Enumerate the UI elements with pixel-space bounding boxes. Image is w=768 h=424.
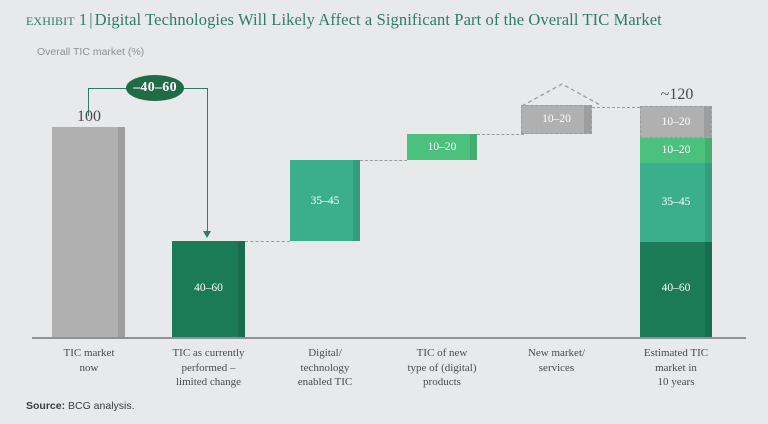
cat-6-line-3: 10 years	[624, 375, 728, 390]
category-label-new-market-services: New market/ services	[505, 346, 608, 375]
bar-1-shading	[118, 127, 125, 337]
source-note: Source: BCG analysis.	[26, 400, 135, 412]
stack-segment-1-value-label: 40–60	[640, 282, 712, 294]
exhibit-chart-page: Exhibit 1|Digital Technologies Will Like…	[0, 0, 768, 424]
source-text: BCG analysis.	[68, 400, 135, 412]
cat-5-line-2: services	[505, 361, 608, 376]
stack-segment-4-value-label: 10–20	[641, 116, 711, 128]
cat-2-line-3: limited change	[152, 375, 265, 390]
bar-6-top-label: ~120	[640, 86, 714, 104]
bar-1-top-label: 100	[52, 108, 126, 126]
cat-2-line-2: performed –	[152, 361, 265, 376]
badge-leader-arrowhead	[203, 231, 211, 238]
category-label-estimated-tic-market: Estimated TIC market in 10 years	[624, 346, 728, 390]
bar-2-value-label: 40–60	[172, 282, 245, 294]
cat-2-line-1: TIC as currently	[152, 346, 265, 361]
badge-leader-right-vertical	[207, 88, 208, 232]
cat-6-line-2: market in	[624, 361, 728, 376]
stack-segment-3-value-label: 10–20	[640, 144, 712, 156]
category-label-digital-technology-enabled-tic: Digital/ technology enabled TIC	[272, 346, 378, 390]
stack-segment-2-value-label: 35–45	[640, 196, 712, 208]
category-label-tic-market-now: TIC market now	[39, 346, 139, 375]
cat-1-line-2: now	[39, 361, 139, 376]
category-label-tic-currently-performed: TIC as currently performed – limited cha…	[152, 346, 265, 390]
connector-bar5-bar6	[592, 107, 640, 108]
stack-segment-new-digital-products[interactable]: 10–20	[640, 138, 712, 163]
connector-bar2-bar3	[245, 241, 290, 242]
cat-6-line-1: Estimated TIC	[624, 346, 728, 361]
source-label: Source:	[26, 400, 65, 412]
bar-4-value-label: 10–20	[407, 141, 477, 153]
bar-3-value-label: 35–45	[290, 195, 360, 207]
connector-bar3-bar4	[360, 160, 407, 161]
chart-plot-area: –40–60 100 40–60 35–45 10–20	[0, 0, 768, 424]
bar-tic-market-now[interactable]	[52, 127, 125, 337]
cat-1-line-1: TIC market	[39, 346, 139, 361]
delta-badge-label: –40–60	[133, 80, 177, 96]
new-market-tent-outline	[520, 82, 604, 107]
cat-4-line-1: TIC of new	[386, 346, 498, 361]
cat-4-line-3: products	[386, 375, 498, 390]
stack-segment-digital-enabled-tic[interactable]: 35–45	[640, 163, 712, 242]
bar-5-value-label: 10–20	[522, 113, 591, 125]
delta-badge: –40–60	[126, 75, 184, 101]
connector-bar4-bar5	[477, 134, 524, 135]
x-axis-baseline	[32, 337, 746, 339]
cat-4-line-2: type of (digital)	[386, 361, 498, 376]
stack-segment-currently-performed[interactable]: 40–60	[640, 242, 712, 337]
bar-digital-technology-enabled-tic[interactable]: 35–45	[290, 160, 360, 241]
bar-tic-new-digital-products[interactable]: 10–20	[407, 134, 477, 160]
cat-5-line-1: New market/	[505, 346, 608, 361]
badge-leader-left-horizontal	[88, 88, 130, 89]
bar-tic-currently-performed[interactable]: 40–60	[172, 241, 245, 337]
cat-3-line-3: enabled TIC	[272, 375, 378, 390]
cat-3-line-1: Digital/	[272, 346, 378, 361]
category-label-tic-new-digital-products: TIC of new type of (digital) products	[386, 346, 498, 390]
stack-segment-new-market-services[interactable]: 10–20	[640, 106, 712, 138]
bar-new-market-services[interactable]: 10–20	[521, 105, 592, 134]
cat-3-line-2: technology	[272, 361, 378, 376]
